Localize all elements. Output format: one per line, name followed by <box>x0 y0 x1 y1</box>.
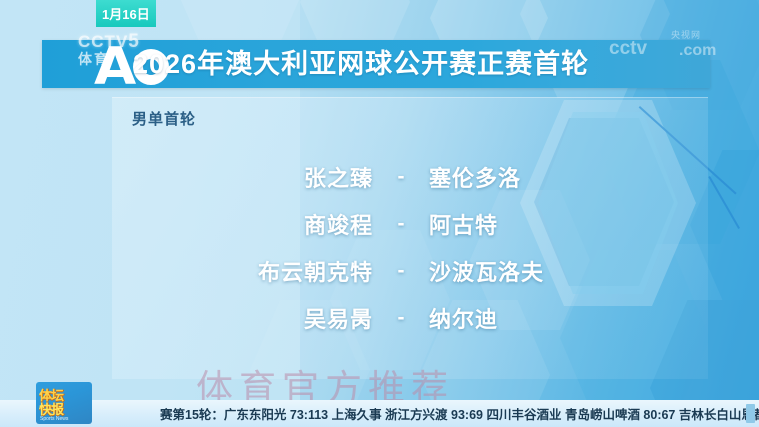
sports-news-program-logo: 体坛 快报 Sports News <box>36 382 92 424</box>
match-player-right: 阿古特 <box>429 208 619 240</box>
watermark-main-text: cctv <box>609 38 647 60</box>
match-row: 布云朝克特 - 沙波瓦洛夫 <box>112 247 708 294</box>
ticker-scroll-indicator[interactable] <box>746 404 755 423</box>
match-row: 吴易昺 - 纳尔迪 <box>112 294 708 341</box>
cctv-dot-com-watermark: cctv 央视网 .com <box>609 28 729 68</box>
match-player-left: 布云朝克特 <box>201 255 373 287</box>
ticker-scrolling-text: 赛第15轮：广东东阳光 73:113 上海久事 浙江方兴渡 93:69 四川丰谷… <box>160 400 759 427</box>
match-row: 张之臻 - 塞伦多洛 <box>112 153 708 200</box>
match-player-right: 塞伦多洛 <box>429 161 619 193</box>
ao-logo-letter-a: A <box>94 41 136 93</box>
match-player-left: 张之臻 <box>201 161 373 193</box>
match-list: 张之臻 - 塞伦多洛 商竣程 - 阿古特 布云朝克特 - 沙波瓦洛夫 吴易昺 -… <box>112 153 708 341</box>
match-player-left: 商竣程 <box>201 208 373 240</box>
watermark-domain-text: .com <box>679 42 716 60</box>
news-ticker-bar: 赛第15轮：广东东阳光 73:113 上海久事 浙江方兴渡 93:69 四川丰谷… <box>0 400 759 427</box>
match-row: 商竣程 - 阿古特 <box>112 200 708 247</box>
watermark-chinese-text: 央视网 <box>671 28 701 41</box>
match-separator: - <box>373 212 429 236</box>
match-separator: - <box>373 259 429 283</box>
match-player-right: 沙波瓦洛夫 <box>429 255 619 287</box>
match-separator: - <box>373 165 429 189</box>
ticker-date-badge: 1月16日 <box>96 0 156 27</box>
tv-broadcast-screen: CCTV5 体育 A 2026年澳大利亚网球公开赛正赛首轮 cctv 央视网 .… <box>0 0 759 427</box>
match-player-right: 纳尔迪 <box>429 302 619 334</box>
page-title: 2026年澳大利亚网球公开赛正赛首轮 <box>133 46 589 82</box>
content-panel: 男单首轮 张之臻 - 塞伦多洛 商竣程 - 阿古特 布云朝克特 - 沙波瓦洛夫 … <box>112 97 708 379</box>
section-subtitle: 男单首轮 <box>132 108 196 129</box>
program-logo-english: Sports News <box>40 416 68 422</box>
match-player-left: 吴易昺 <box>201 302 373 334</box>
match-separator: - <box>373 306 429 330</box>
